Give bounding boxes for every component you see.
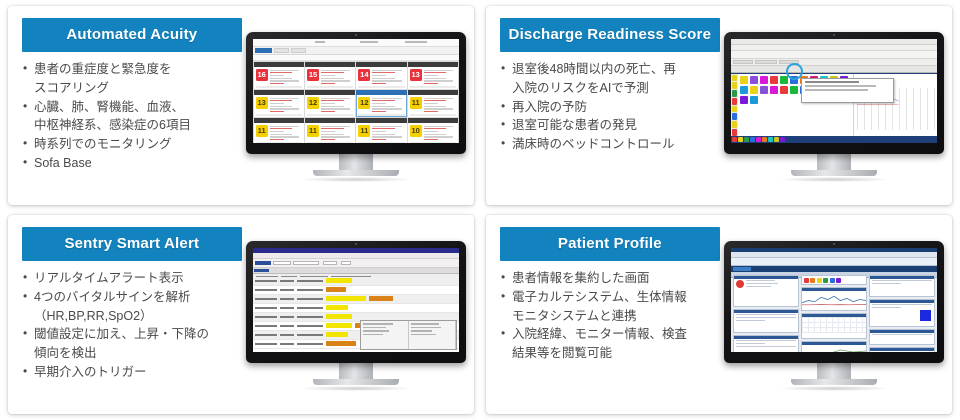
tile-detail-lines [422, 125, 457, 141]
status-chip-icon[interactable] [732, 106, 737, 113]
risk-indicator-icon[interactable] [780, 76, 788, 84]
trigger-item-warning-badge [326, 305, 348, 310]
taskbar-app-icon[interactable] [768, 137, 773, 142]
card-header [734, 310, 798, 313]
tile-body: 11 [356, 123, 406, 142]
vitals-waveform [802, 291, 866, 308]
tile-detail-lines [319, 97, 354, 113]
cell-unit [255, 343, 277, 345]
cell-bed [280, 298, 294, 300]
status-icon[interactable] [836, 278, 841, 283]
panel-patient-profile[interactable]: Patient Profile 患者情報を集約した画面 電子カルテシステム、生体… [486, 215, 952, 414]
tab-active[interactable] [255, 48, 272, 53]
tile-header [254, 62, 304, 67]
cell-patient-name [297, 289, 323, 291]
risk-tooltip [801, 78, 894, 103]
list-item: 退室後48時間以内の死亡、再 [500, 61, 720, 79]
monitor-stand-neck [817, 363, 851, 379]
tile-header [305, 118, 355, 123]
acuity-score-badge: 11 [256, 125, 268, 137]
table-row[interactable] [253, 277, 459, 286]
panel-title-automated-acuity: Automated Acuity [22, 18, 242, 52]
list-item: 患者の重症度と緊急度を [22, 61, 242, 79]
detail-popup-left [361, 321, 408, 348]
tile-body: 13 [408, 67, 458, 86]
monitor-shadow [778, 177, 890, 182]
tab-third[interactable] [291, 48, 306, 53]
risk-indicator-icon[interactable] [770, 86, 778, 94]
labs-table-card [801, 313, 867, 339]
tile-detail-lines [268, 69, 303, 85]
status-icon[interactable] [823, 278, 828, 283]
status-chip-icon[interactable] [732, 75, 737, 82]
panel-discharge-readiness-score[interactable]: Discharge Readiness Score 退室後48時間以内の死亡、再… [486, 6, 952, 205]
app-toolbar [253, 259, 459, 268]
risk-indicator-icon[interactable] [750, 76, 758, 84]
app-subtoolbar [253, 268, 459, 274]
monitor-stand-neck [339, 154, 373, 170]
status-chip-icon[interactable] [732, 129, 737, 136]
card-header [734, 276, 798, 279]
cell-bed [280, 334, 294, 336]
app-toolbar [731, 51, 937, 59]
taskbar-app-icon[interactable] [744, 137, 749, 142]
monitor-mockup-discharge [724, 32, 944, 182]
tile-body: 12 [305, 95, 355, 114]
app-tabstrip [731, 59, 937, 66]
list-item: 心臓、肺、腎機能、血液、 [22, 99, 242, 117]
tile-header [408, 90, 458, 95]
list-item: 早期介入のトリガー [22, 364, 242, 382]
list-item: 入院経緯、モニター情報、検査 [500, 326, 720, 344]
acuity-score-badge: 13 [256, 97, 268, 109]
acuity-tile[interactable]: 13 [408, 62, 458, 89]
tile-detail-lines [422, 97, 457, 113]
panel-text-column: Discharge Readiness Score 退室後48時間以内の死亡、再… [486, 6, 724, 205]
trigger-item-warning-badge [326, 314, 352, 319]
trigger-item-warning-badge [326, 296, 366, 301]
risk-indicator-icon[interactable] [760, 86, 768, 94]
list-item: 患者情報を集約した画面 [500, 270, 720, 288]
status-chip-icon[interactable] [732, 98, 737, 105]
acuity-tile[interactable]: 11 [254, 118, 304, 143]
tile-header [356, 90, 406, 95]
taskbar-app-icon[interactable] [762, 137, 767, 142]
panel-image-column [246, 215, 474, 414]
monitor-bezel: 161514131312121111111110 [246, 32, 466, 154]
os-taskbar[interactable] [731, 136, 937, 143]
acuity-tile[interactable]: 11 [305, 118, 355, 143]
monitor-mockup-alert [246, 241, 466, 391]
acuity-tile[interactable]: 15 [305, 62, 355, 89]
monitor-stand-base [791, 170, 877, 176]
cell-bed [280, 343, 294, 345]
trigger-item-critical-badge [369, 296, 393, 301]
imaging-card [869, 299, 935, 327]
list-item: スコアリング [22, 80, 242, 98]
detail-popup-right [409, 321, 456, 348]
cell-unit [255, 289, 277, 291]
list-item: 閾値設定に加え、上昇・下降の [22, 326, 242, 344]
card-header [870, 330, 934, 333]
status-icon-row [802, 276, 866, 285]
tile-footer [410, 86, 456, 87]
taskbar-app-icon[interactable] [738, 137, 743, 142]
app-tabbar [253, 47, 459, 55]
taskbar-app-icon[interactable] [780, 137, 785, 142]
trigger-item-warning-badge [326, 332, 348, 337]
app-tabstrip [731, 266, 937, 272]
monitor-mockup-acuity: 161514131312121111111110 [246, 32, 466, 182]
status-icon[interactable] [830, 278, 835, 283]
tile-footer [307, 114, 353, 115]
tile-footer [256, 86, 302, 87]
status-icon[interactable] [817, 278, 822, 283]
tile-body: 13 [254, 95, 304, 114]
card-header [870, 276, 934, 279]
bullet-list-discharge-readiness-score: 退室後48時間以内の死亡、再 入院のリスクをAIで予測 再入院の予防 退室可能な… [500, 61, 720, 155]
list-item: 時系列でのモニタリング [22, 136, 242, 154]
acuity-tile[interactable]: 11 [356, 118, 406, 143]
status-icon[interactable] [810, 278, 815, 283]
dashboard-column-left [733, 275, 799, 350]
list-item: 結果等を閲覧可能 [500, 345, 720, 363]
panel-title-discharge-readiness-score: Discharge Readiness Score [500, 18, 720, 52]
monitor-shadow [300, 386, 412, 391]
panel-title-sentry-smart-alert: Sentry Smart Alert [22, 227, 242, 261]
tile-body: 11 [305, 123, 355, 142]
cell-patient-name [297, 307, 323, 309]
tile-body: 10 [408, 123, 458, 142]
dashboard-column-center [801, 275, 867, 350]
medication-card [869, 275, 935, 297]
tile-body: 14 [356, 67, 406, 86]
monitor-stand-base [313, 170, 399, 176]
profile-app [731, 248, 937, 352]
acuity-tile-grid: 161514131312121111111110 [253, 61, 459, 143]
patient-demographics-card [733, 275, 799, 307]
taskbar-app-icon[interactable] [756, 137, 761, 142]
panel-image-column [724, 215, 952, 414]
cell-unit [255, 325, 277, 327]
list-item: リアルタイムアラート表示 [22, 270, 242, 288]
taskbar-app-icon[interactable] [732, 137, 737, 142]
table-column-header [731, 66, 937, 73]
taskbar-app-icon[interactable] [774, 137, 779, 142]
status-chip-icon[interactable] [732, 121, 737, 128]
risk-indicator-icon[interactable] [770, 76, 778, 84]
list-item: 4つのバイタルサインを解析 [22, 289, 242, 307]
monitor-screen-discharge [731, 39, 937, 143]
panel-image-column [724, 6, 952, 205]
dashboard-columns [731, 275, 937, 350]
risk-indicator-icon[interactable] [740, 86, 748, 94]
cell-unit [255, 307, 277, 309]
cell-bed [280, 280, 294, 282]
cell-bed [280, 289, 294, 291]
cell-unit [255, 334, 277, 336]
trigger-item-warning-badge [326, 323, 352, 328]
tile-detail-lines [370, 97, 405, 113]
list-item: 電子カルテシステム、生体情報 [500, 289, 720, 307]
tile-header [254, 118, 304, 123]
vitals-trend-card [801, 287, 867, 311]
trigger-item-critical-badge [326, 287, 346, 292]
panel-text-column: Automated Acuity 患者の重症度と緊急度を スコアリング 心臓、肺… [8, 6, 246, 205]
acuity-tile[interactable]: 12 [356, 90, 406, 117]
tile-body: 15 [305, 67, 355, 86]
acuity-score-badge: 12 [307, 97, 319, 109]
cell-bed [280, 316, 294, 318]
tile-footer [307, 86, 353, 87]
dashboard-column-right [869, 275, 935, 350]
list-item: 入院のリスクをAIで予測 [500, 80, 720, 98]
monitor-stand-base [791, 379, 877, 385]
panel-title-patient-profile: Patient Profile [500, 227, 720, 261]
alert-dot-icon [736, 280, 744, 288]
tile-detail-lines [319, 69, 354, 85]
tile-header [356, 118, 406, 123]
monitor-shadow [778, 386, 890, 391]
acuity-tile[interactable]: 11 [408, 90, 458, 117]
cell-patient-name [297, 298, 323, 300]
card-header [802, 342, 866, 345]
list-item: 中枢神経系、感染症の6項目 [22, 117, 242, 135]
tile-body: 12 [356, 95, 406, 114]
cell-patient-name [297, 343, 323, 345]
bullet-list-patient-profile: 患者情報を集約した画面 電子カルテシステム、生体情報 モニタシステムと連携 入院… [500, 270, 720, 364]
risk-indicator-icon[interactable] [750, 86, 758, 94]
app-titlebar [253, 39, 459, 47]
risk-indicator-icon[interactable] [740, 96, 748, 104]
tab-second[interactable] [274, 48, 289, 53]
list-item: 再入院の予防 [500, 99, 720, 117]
feature-grid: Automated Acuity 患者の重症度と緊急度を スコアリング 心臓、肺… [0, 0, 960, 420]
panel-image-column: 161514131312121111111110 [246, 6, 474, 205]
acuity-score-badge: 12 [358, 97, 370, 109]
card-header [734, 336, 798, 339]
tile-detail-lines [268, 125, 303, 141]
tile-footer [256, 114, 302, 115]
monitor-screen-alert [253, 248, 459, 352]
list-item: 満床時のベッドコントロール [500, 136, 720, 154]
acuity-score-badge: 16 [256, 69, 268, 81]
trigger-item-warning-badge [326, 278, 352, 283]
cell-patient-name [297, 325, 323, 327]
tile-detail-lines [370, 69, 405, 85]
detail-popup [360, 320, 457, 349]
tile-header [408, 62, 458, 67]
secondary-trend-card [801, 341, 867, 352]
acuity-score-badge: 11 [410, 97, 422, 109]
tile-header [305, 90, 355, 95]
app-toolbar [731, 258, 937, 266]
status-chip-icon[interactable] [732, 90, 737, 97]
monitor-screen-profile [731, 248, 937, 352]
table-row[interactable] [253, 286, 459, 295]
list-item: 退室可能な患者の発見 [500, 117, 720, 135]
status-icon[interactable] [804, 278, 809, 283]
list-item: Sofa Base [22, 155, 242, 173]
tile-body: 16 [254, 67, 304, 86]
tile-detail-lines [422, 69, 457, 85]
table-row[interactable] [253, 295, 459, 304]
list-item: 傾向を検出 [22, 345, 242, 363]
taskbar-app-icon[interactable] [750, 137, 755, 142]
labs-grid [802, 317, 866, 333]
status-chip-icon[interactable] [732, 82, 737, 89]
monitor-shadow [300, 177, 412, 182]
tile-header [254, 90, 304, 95]
tile-body: 11 [254, 123, 304, 142]
tile-detail-lines [268, 97, 303, 113]
selected-cell-highlight [920, 310, 931, 321]
card-header [870, 300, 934, 303]
panel-text-column: Sentry Smart Alert リアルタイムアラート表示 4つのバイタルサ… [8, 215, 246, 414]
tile-footer [358, 114, 404, 115]
card-header [870, 348, 934, 351]
list-item: モニタシステムと連携 [500, 308, 720, 326]
status-icon-card [801, 275, 867, 285]
panel-text-column: Patient Profile 患者情報を集約した画面 電子カルテシステム、生体… [486, 215, 724, 414]
monitor-bezel [246, 241, 466, 363]
secondary-waveform [802, 346, 866, 352]
risk-indicator-icon[interactable] [780, 86, 788, 94]
acuity-tile[interactable]: 10 [408, 118, 458, 143]
cell-bed [280, 307, 294, 309]
acuity-score-badge: 13 [410, 69, 422, 81]
acuity-tile[interactable]: 12 [305, 90, 355, 117]
tile-header [356, 62, 406, 67]
cell-bed [280, 325, 294, 327]
discharge-app [731, 39, 937, 143]
cell-unit [255, 316, 277, 318]
panel-sentry-smart-alert[interactable]: Sentry Smart Alert リアルタイムアラート表示 4つのバイタルサ… [8, 215, 474, 414]
acuity-score-badge: 11 [358, 125, 370, 137]
bullet-list-automated-acuity: 患者の重症度と緊急度を スコアリング 心臓、肺、腎機能、血液、 中枢神経系、感染… [22, 61, 242, 174]
risk-indicator-icon[interactable] [740, 76, 748, 84]
monitor-bezel [724, 32, 944, 154]
bullet-list-sentry-smart-alert: リアルタイムアラート表示 4つのバイタルサインを解析 （HR,BP,RR,SpO… [22, 270, 242, 383]
acuity-tile[interactable]: 14 [356, 62, 406, 89]
cell-patient-name [297, 280, 323, 282]
orders-card [869, 329, 935, 345]
status-chip-icon[interactable] [732, 113, 737, 120]
monitor-stand-base [313, 379, 399, 385]
risk-indicator-icon[interactable] [760, 76, 768, 84]
cell-patient-name [297, 334, 323, 336]
monitor-screen-acuity: 161514131312121111111110 [253, 39, 459, 143]
alert-app [253, 248, 459, 352]
acuity-tile[interactable]: 13 [254, 90, 304, 117]
list-item: （HR,BP,RR,SpO2） [22, 308, 242, 326]
results-card [869, 347, 935, 352]
acuity-tile[interactable]: 16 [254, 62, 304, 89]
monitor-stand-neck [817, 154, 851, 170]
trigger-item-critical-badge [326, 341, 356, 346]
acuity-score-badge: 14 [358, 69, 370, 81]
cell-unit [255, 298, 277, 300]
tile-body: 11 [408, 95, 458, 114]
monitor-stand-neck [339, 363, 373, 379]
notes-card [733, 335, 799, 352]
risk-indicator-icon[interactable] [750, 96, 758, 104]
acuity-score-badge: 10 [410, 125, 422, 137]
panel-automated-acuity[interactable]: Automated Acuity 患者の重症度と緊急度を スコアリング 心臓、肺… [8, 6, 474, 205]
tile-detail-lines [370, 125, 405, 141]
patient-status-rail [731, 74, 738, 136]
history-card [733, 309, 799, 333]
tile-header [305, 62, 355, 67]
monitor-bezel [724, 241, 944, 363]
monitor-mockup-profile [724, 241, 944, 391]
tile-detail-lines [319, 125, 354, 141]
tile-header [408, 118, 458, 123]
acuity-score-badge: 15 [307, 69, 319, 81]
cell-patient-name [297, 316, 323, 318]
acuity-score-badge: 11 [307, 125, 319, 137]
table-row[interactable] [253, 304, 459, 313]
cell-unit [255, 280, 277, 282]
risk-indicator-icon[interactable] [790, 86, 798, 94]
tile-footer [410, 114, 456, 115]
tile-footer [358, 86, 404, 87]
